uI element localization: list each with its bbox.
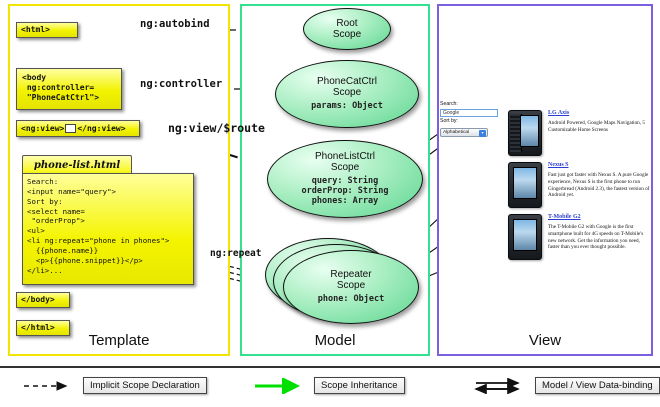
search-input[interactable]: Google [440, 109, 498, 117]
code-box-body-close: </body> [16, 292, 70, 308]
search-label: Search: [440, 101, 506, 109]
list-item[interactable]: LG Axis Android Powered, Google Maps Nav… [508, 110, 652, 156]
phone-name-link[interactable]: T-Mobile G2 [548, 214, 652, 221]
scope-phonelistctrl: PhoneListCtrl Scope query: String orderP… [267, 140, 423, 218]
scope-root-name: Root Scope [333, 18, 361, 40]
legend-label: Scope Inheritance [314, 377, 405, 394]
file-note-phone-list: phone-list.html Search: <input name="que… [22, 155, 194, 285]
sort-select[interactable]: Alphabetical ▾ [440, 128, 488, 137]
scope-repeater-props: phone: Object [318, 295, 385, 305]
dashed-arrow-icon [22, 378, 76, 394]
scope-repeater-name: Repeater Scope [330, 269, 371, 291]
phone-list: LG Axis Android Powered, Google Maps Nav… [508, 110, 652, 266]
scope-root: Root Scope [303, 8, 391, 50]
code-box-html-open: <html> [16, 22, 78, 38]
scope-repeater-stack: Repeater Scope phone: Object [265, 238, 425, 326]
edge-label-ngview-route: ng:view/$route [168, 121, 265, 135]
file-note-title: phone-list.html [22, 155, 132, 175]
edge-label-ngrepeat: ng:repeat [210, 248, 261, 259]
code-box-body-open: <body ng:controller= "PhoneCatCtrl"> [16, 68, 122, 110]
phone-snippet: Fast just got faster with Nexus S. A pur… [548, 172, 652, 199]
sort-select-value: Alphabetical [443, 130, 469, 135]
ngview-open-tag: <ng:view> [21, 124, 64, 134]
edge-label-autobind: ng:autobind [140, 18, 210, 30]
phone-thumbnail-icon [508, 162, 542, 208]
phone-snippet: The T-Mobile G2 with Google is the first… [548, 224, 652, 251]
edge-label-controller: ng:controller [140, 78, 222, 90]
phone-name-link[interactable]: LG Axis [548, 110, 652, 117]
panel-label-model: Model [240, 332, 430, 349]
diagram-canvas: Template Model View <html> <body ng:cont… [0, 0, 660, 405]
phone-snippet: Android Powered, Google Maps Navigation,… [548, 120, 652, 133]
view-search-form: Search: Google Sort by: Alphabetical ▾ [440, 101, 506, 137]
scope-phonecatctrl-props: params: Object [311, 102, 383, 112]
scope-repeater: Repeater Scope phone: Object [283, 250, 419, 324]
legend: Implicit Scope Declaration Scope Inherit… [0, 366, 660, 407]
code-box-html-close: </html> [16, 320, 70, 336]
legend-item-data-binding: Model / View Data-binding [474, 377, 660, 394]
scope-phonecatctrl: PhoneCatCtrl Scope params: Object [275, 60, 419, 128]
list-item[interactable]: T-Mobile G2 The T-Mobile G2 with Google … [508, 214, 652, 260]
chevron-down-icon: ▾ [479, 130, 486, 137]
legend-label: Model / View Data-binding [535, 377, 660, 394]
file-note-code: Search: <input name="query"> Sort by: <s… [22, 173, 194, 285]
code-box-ngview: <ng:view></ng:view> [16, 120, 140, 137]
green-arrow-icon [253, 378, 307, 394]
ngview-close-tag: </ng:view> [77, 124, 125, 134]
scope-phonelistctrl-name: PhoneListCtrl Scope [315, 151, 375, 173]
legend-item-implicit-scope: Implicit Scope Declaration [22, 377, 207, 394]
scope-phonelistctrl-props: query: String orderProp: String phones: … [302, 177, 389, 206]
legend-label: Implicit Scope Declaration [83, 377, 207, 394]
panel-label-view: View [437, 332, 653, 349]
sort-label: Sort by: [440, 118, 506, 126]
phone-thumbnail-icon [508, 214, 542, 260]
phone-name-link[interactable]: Nexus S [548, 162, 652, 169]
scope-phonecatctrl-name: PhoneCatCtrl Scope [317, 76, 377, 98]
legend-item-scope-inheritance: Scope Inheritance [253, 377, 405, 394]
double-arrow-icon [474, 378, 528, 394]
list-item[interactable]: Nexus S Fast just got faster with Nexus … [508, 162, 652, 208]
ngview-placeholder-icon [65, 124, 76, 133]
phone-thumbnail-icon [508, 110, 542, 156]
